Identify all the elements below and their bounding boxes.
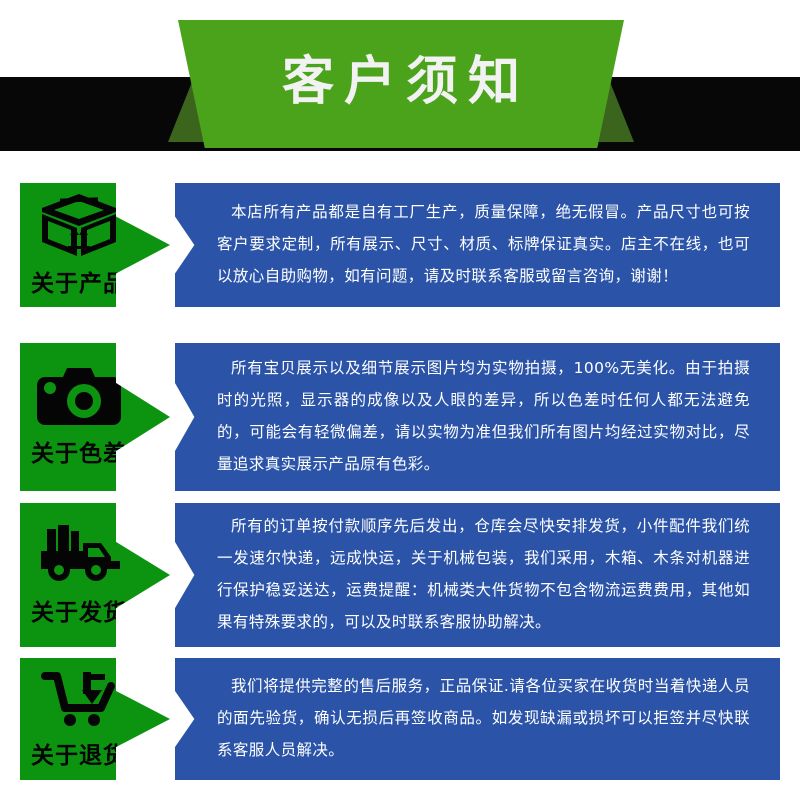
camera-icon [37,366,121,428]
ribbon-banner: 客户须知 [178,20,624,148]
section-panel-return: 我们将提供完整的售后服务，正品保证.请各位买家在收货时当着快递人员的面先验货，确… [175,658,780,780]
section-card-shipping[interactable]: 关于发货 [20,503,170,647]
notice-row: 关于退货 我们将提供完整的售后服务，正品保证.请各位买家在收货时当着快递人员的面… [0,658,800,780]
section-panel-shipping: 所有的订单按付款顺序先后发出，仓库会尽快安排发货，小件配件我们统一发速尔快递，远… [175,503,780,647]
section-label: 关于产品 [31,264,127,298]
section-panel-product: 本店所有产品都是自有工厂生产，质量保障，绝无假冒。产品尺寸也可按客户要求定制，所… [175,183,780,307]
section-text: 所有的订单按付款顺序先后发出，仓库会尽快安排发货，小件配件我们统一发速尔快递，远… [175,511,780,638]
section-text: 本店所有产品都是自有工厂生产，质量保障，绝无假冒。产品尺寸也可按客户要求定制，所… [175,197,780,292]
section-label: 关于色差 [31,434,127,468]
return-cart-icon [39,668,119,730]
notice-sections: 关于产品 本店所有产品都是自有工厂生产，质量保障，绝无假冒。产品尺寸也可按客户要… [0,168,800,780]
notice-row: 关于发货 所有的订单按付款顺序先后发出，仓库会尽快安排发货，小件配件我们统一发速… [0,503,800,647]
section-label: 关于退货 [31,736,127,770]
page-header: 客户须知 [0,0,800,168]
notice-row: 关于产品 本店所有产品都是自有工厂生产，质量保障，绝无假冒。产品尺寸也可按客户要… [0,183,800,307]
package-box-icon [40,192,118,258]
section-label: 关于发货 [31,593,127,627]
forklift-truck-icon [33,523,125,587]
section-card-product[interactable]: 关于产品 [20,183,170,307]
section-card-color[interactable]: 关于色差 [20,343,170,491]
section-card-return[interactable]: 关于退货 [20,658,170,780]
section-panel-color: 所有宝贝展示以及细节展示图片均为实物拍摄，100%无美化。由于拍摄时的光照，显示… [175,343,780,491]
section-text: 所有宝贝展示以及细节展示图片均为实物拍摄，100%无美化。由于拍摄时的光照，显示… [175,353,780,480]
section-text: 我们将提供完整的售后服务，正品保证.请各位买家在收货时当着快递人员的面先验货，确… [175,671,780,766]
page-title: 客户须知 [272,56,530,112]
notice-row: 关于色差 所有宝贝展示以及细节展示图片均为实物拍摄，100%无美化。由于拍摄时的… [0,343,800,491]
